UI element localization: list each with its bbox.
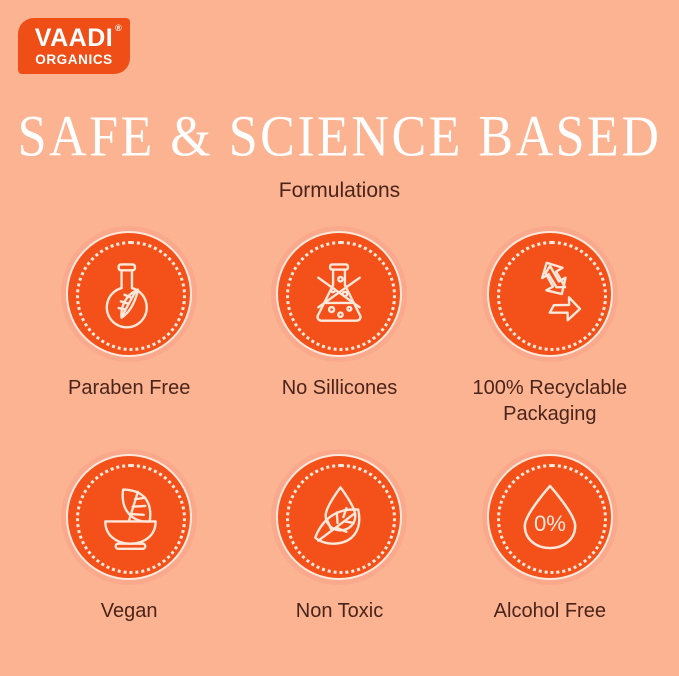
badge-inner-ring: 0% — [487, 454, 613, 580]
badge-vegan[interactable]: Vegan — [24, 449, 234, 624]
badge-inner-ring — [276, 454, 402, 580]
badge-disc — [271, 449, 407, 585]
badge-inner-ring — [276, 231, 402, 357]
badge-recyclable-packaging[interactable]: 100% Recyclable Packaging — [445, 226, 655, 427]
zero-percent-text: 0% — [534, 511, 566, 536]
badge-disc — [61, 226, 197, 362]
badge-disc: 0% — [482, 449, 618, 585]
badge-label: Non Toxic — [296, 598, 383, 624]
badge-paraben-free[interactable]: Paraben Free — [24, 226, 234, 427]
page-title: SAFE & SCIENCE BASED — [0, 104, 679, 171]
badge-non-toxic[interactable]: Non Toxic — [234, 449, 444, 624]
droplet-leaf-icon — [302, 480, 376, 554]
badge-label: No Sillicones — [282, 375, 398, 401]
badge-label: Vegan — [101, 598, 158, 624]
brand-subtitle: ORGANICS — [35, 52, 113, 68]
registered-trademark-icon: ® — [115, 24, 122, 33]
brand-name-text: VAADI — [35, 24, 113, 52]
badge-inner-ring — [66, 231, 192, 357]
badge-no-sillicones[interactable]: No Sillicones — [234, 226, 444, 427]
promo-banner: VAADI ® ORGANICS SAFE & SCIENCE BASED Fo… — [0, 0, 679, 676]
badge-label: Paraben Free — [68, 375, 190, 401]
flask-leaf-icon — [92, 257, 166, 331]
page-subtitle: Formulations — [0, 178, 679, 204]
crossed-out-erlenmeyer-flask-icon — [302, 257, 376, 331]
claim-badge-grid: Paraben Free — [24, 226, 655, 624]
badge-inner-ring — [66, 454, 192, 580]
brand-name: VAADI ® — [35, 26, 113, 51]
bowl-leaf-icon — [92, 480, 166, 554]
badge-disc — [482, 226, 618, 362]
recycle-icon — [513, 257, 587, 331]
badge-label: Alcohol Free — [494, 598, 606, 624]
badge-inner-ring — [487, 231, 613, 357]
badge-label: 100% Recyclable Packaging — [455, 375, 645, 427]
badge-alcohol-free[interactable]: 0% Alcohol Free — [445, 449, 655, 624]
droplet-zero-percent-icon: 0% — [513, 480, 587, 554]
brand-logo[interactable]: VAADI ® ORGANICS — [18, 18, 130, 74]
badge-disc — [271, 226, 407, 362]
badge-disc — [61, 449, 197, 585]
